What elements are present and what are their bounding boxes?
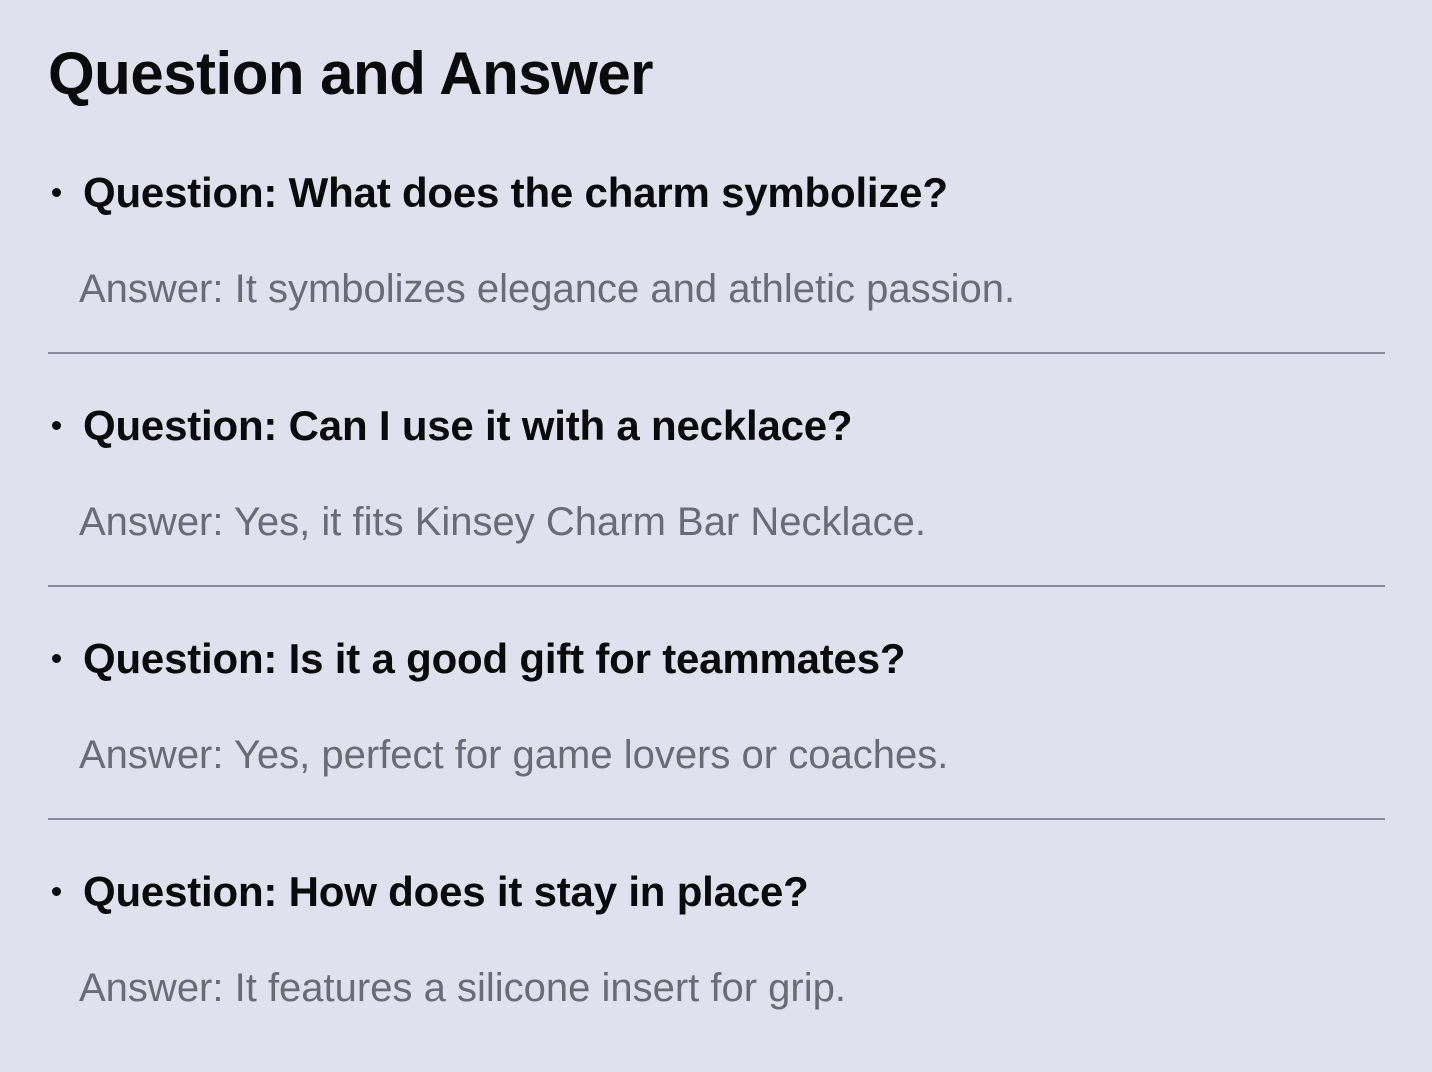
qa-page: Question and Answer Question: What does … [0,0,1432,1072]
qa-list: Question: What does the charm symbolize?… [48,169,1384,1011]
qa-divider [48,818,1385,820]
qa-question-text: Question: Is it a good gift for teammate… [83,635,905,682]
qa-question-row: Question: Is it a good gift for teammate… [48,635,1384,682]
qa-divider [48,352,1385,354]
page-title: Question and Answer [48,0,1384,107]
qa-answer-text: Answer: Yes, perfect for game lovers or … [48,682,1384,778]
qa-question-text: Question: What does the charm symbolize? [83,169,948,216]
qa-item: Question: Can I use it with a necklace? … [48,402,1384,587]
qa-answer-text: Answer: Yes, it fits Kinsey Charm Bar Ne… [48,449,1384,545]
qa-question-text: Question: Can I use it with a necklace? [83,402,852,449]
qa-item: Question: Is it a good gift for teammate… [48,635,1384,820]
qa-question-row: Question: Can I use it with a necklace? [48,402,1384,449]
bullet-dot-icon [52,188,61,197]
qa-answer-text: Answer: It symbolizes elegance and athle… [48,216,1384,312]
qa-question-row: Question: What does the charm symbolize? [48,169,1384,216]
qa-item: Question: How does it stay in place? Ans… [48,868,1384,1011]
bullet-dot-icon [52,654,61,663]
qa-question-row: Question: How does it stay in place? [48,868,1384,915]
bullet-dot-icon [52,421,61,430]
qa-answer-text: Answer: It features a silicone insert fo… [48,915,1384,1011]
qa-question-text: Question: How does it stay in place? [83,868,809,915]
qa-item: Question: What does the charm symbolize?… [48,169,1384,354]
qa-divider [48,585,1385,587]
bullet-dot-icon [52,887,61,896]
